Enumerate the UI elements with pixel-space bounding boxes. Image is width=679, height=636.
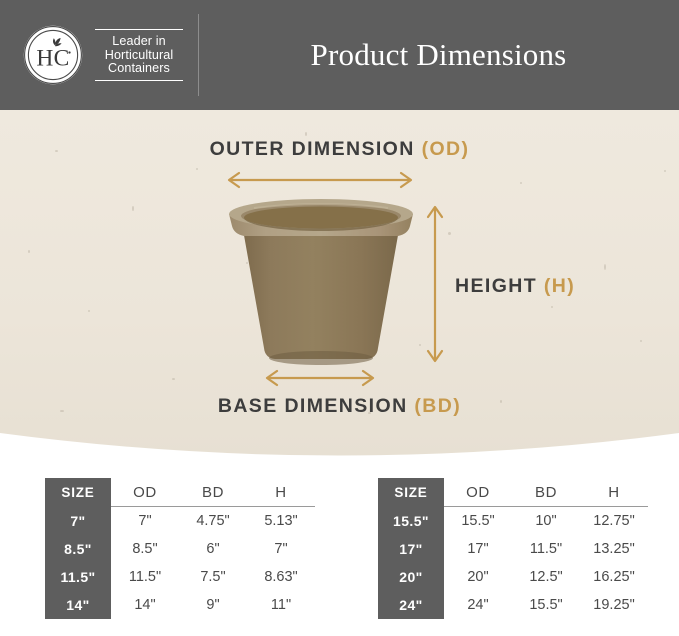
table-row: 7" 7" 4.75" 5.13" [45,507,315,536]
cell-bd: 9" [179,591,247,619]
cell-size: 14" [45,591,111,619]
cell-bd: 12.5" [512,563,580,591]
cell-bd: 11.5" [512,535,580,563]
column-header-od: OD [444,478,512,507]
table-row: 8.5" 8.5" 6" 7" [45,535,315,563]
cell-od: 14" [111,591,179,619]
table-row: 24" 24" 15.5" 19.25" [378,591,648,619]
diagram-panel: OUTER DIMENSION (OD) [0,110,679,460]
brand-logo: HC Leader in Horticultural Containers [22,18,187,92]
cell-od: 20" [444,563,512,591]
cell-size: 24" [378,591,444,619]
cell-size: 7" [45,507,111,536]
hc-logo-svg: HC [22,24,84,86]
cell-od: 15.5" [444,507,512,536]
base-dimension-text: BASE DIMENSION [218,395,408,417]
column-header-h: H [580,478,648,507]
column-header-h: H [247,478,315,507]
column-header-size: SIZE [45,478,111,507]
cell-bd: 7.5" [179,563,247,591]
column-header-bd: BD [512,478,580,507]
cell-size: 15.5" [378,507,444,536]
column-header-od: OD [111,478,179,507]
tagline-line-2: Horticultural [95,49,183,62]
pot-svg [222,198,420,370]
cell-h: 16.25" [580,563,648,591]
dimension-table-left: SIZE OD BD H 7" 7" 4.75" 5.13" 8.5" 8.5"… [45,478,315,619]
cell-h: 11" [247,591,315,619]
table-row: 11.5" 11.5" 7.5" 8.63" [45,563,315,591]
table-row: 17" 17" 11.5" 13.25" [378,535,648,563]
base-dimension-arrow-icon [258,368,382,388]
cell-h: 19.25" [580,591,648,619]
hc-circle-logo-icon: HC [22,24,84,86]
cell-size: 8.5" [45,535,111,563]
dimension-table-right: SIZE OD BD H 15.5" 15.5" 10" 12.75" 17" … [378,478,648,619]
outer-dimension-arrow-icon [220,170,420,190]
table-row: 14" 14" 9" 11" [45,591,315,619]
svg-text:HC: HC [36,45,69,71]
outer-dimension-label: OUTER DIMENSION (OD) [0,138,679,161]
outer-dimension-text: OUTER DIMENSION [210,138,415,160]
page-title: Product Dimensions [198,0,679,110]
brand-tagline: Leader in Horticultural Containers [95,29,183,80]
column-header-size: SIZE [378,478,444,507]
cell-od: 7" [111,507,179,536]
cell-od: 24" [444,591,512,619]
cell-od: 8.5" [111,535,179,563]
table-row: 15.5" 15.5" 10" 12.75" [378,507,648,536]
cell-h: 7" [247,535,315,563]
cell-od: 17" [444,535,512,563]
height-label: HEIGHT (H) [455,275,575,298]
cell-h: 8.63" [247,563,315,591]
table-header-row: SIZE OD BD H [45,478,315,507]
base-dimension-label: BASE DIMENSION (BD) [0,395,679,418]
height-text: HEIGHT [455,275,537,297]
cell-bd: 6" [179,535,247,563]
height-arrow-icon [425,198,445,370]
planter-pot-illustration [222,198,420,370]
tagline-line-3: Containers [95,62,183,75]
cell-bd: 15.5" [512,591,580,619]
cell-h: 5.13" [247,507,315,536]
cell-size: 20" [378,563,444,591]
cell-bd: 4.75" [179,507,247,536]
cell-h: 12.75" [580,507,648,536]
height-abbr: (H) [544,275,575,297]
cell-size: 17" [378,535,444,563]
dimension-tables: SIZE OD BD H 7" 7" 4.75" 5.13" 8.5" 8.5"… [0,470,679,636]
cell-od: 11.5" [111,563,179,591]
cell-bd: 10" [512,507,580,536]
cell-size: 11.5" [45,563,111,591]
column-header-bd: BD [179,478,247,507]
base-dimension-abbr: (BD) [414,395,461,417]
table-header-row: SIZE OD BD H [378,478,648,507]
cell-h: 13.25" [580,535,648,563]
page-header: HC Leader in Horticultural Containers Pr… [0,0,679,110]
table-row: 20" 20" 12.5" 16.25" [378,563,648,591]
tagline-line-1: Leader in [95,35,183,48]
outer-dimension-abbr: (OD) [422,138,470,160]
